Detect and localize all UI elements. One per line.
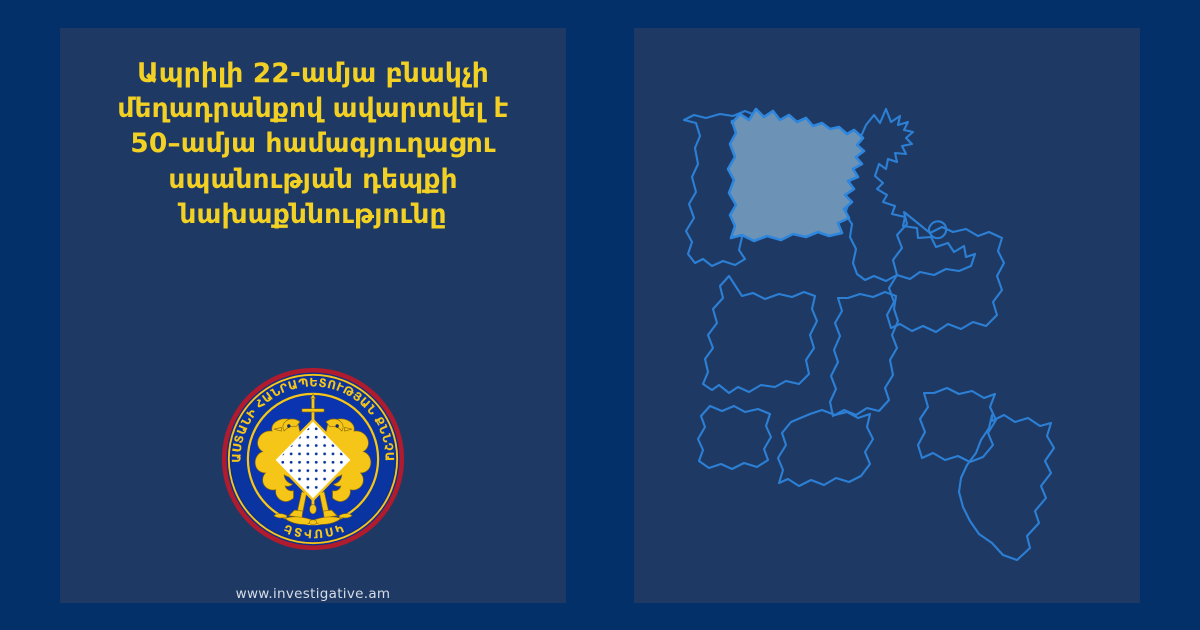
province-armavir	[698, 406, 771, 469]
province-vayots-dzor	[918, 388, 996, 462]
right-panel	[634, 28, 1140, 603]
province-kotayk	[830, 292, 898, 416]
armenia-province-map	[634, 28, 1140, 603]
province-syunik	[959, 415, 1054, 560]
headline-line-4: սպանության դեպքի	[86, 162, 540, 197]
investigative-committee-seal-icon: ՀԱՅԱՍՏԱՆԻ ՀԱՆՐԱՊԵՏՈՒԹՅԱՆ ՔՆՆՉԱԿԱՆ ԿՈՄԻՏԵ	[220, 366, 406, 552]
province-lori-highlighted	[728, 109, 864, 241]
emblem-container: ՀԱՅԱՍՏԱՆԻ ՀԱՆՐԱՊԵՏՈՒԹՅԱՆ ՔՆՆՉԱԿԱՆ ԿՈՄԻՏԵ	[60, 366, 566, 552]
province-ararat	[778, 410, 873, 486]
headline-line-3: 50–ամյա համագյուղացու	[86, 126, 540, 161]
province-tavush	[844, 109, 975, 281]
headline-line-5: նախաքննությունը	[86, 197, 540, 232]
province-aragatsotn	[703, 276, 817, 393]
headline-line-1: Ապրիլի 22-ամյա բնակչի	[86, 56, 540, 91]
headline-line-2: մեղադրանքով ավարտվել է	[86, 91, 540, 126]
left-panel: Ապրիլի 22-ամյա բնակչի մեղադրանքով ավարտվ…	[60, 28, 566, 603]
page-title: Ապրիլի 22-ամյա բնակչի մեղադրանքով ավարտվ…	[86, 56, 540, 232]
site-url-label: www.investigative.am	[60, 586, 566, 602]
poster-canvas: Ապրիլի 22-ամյա բնակչի մեղադրանքով ավարտվ…	[0, 0, 1200, 630]
